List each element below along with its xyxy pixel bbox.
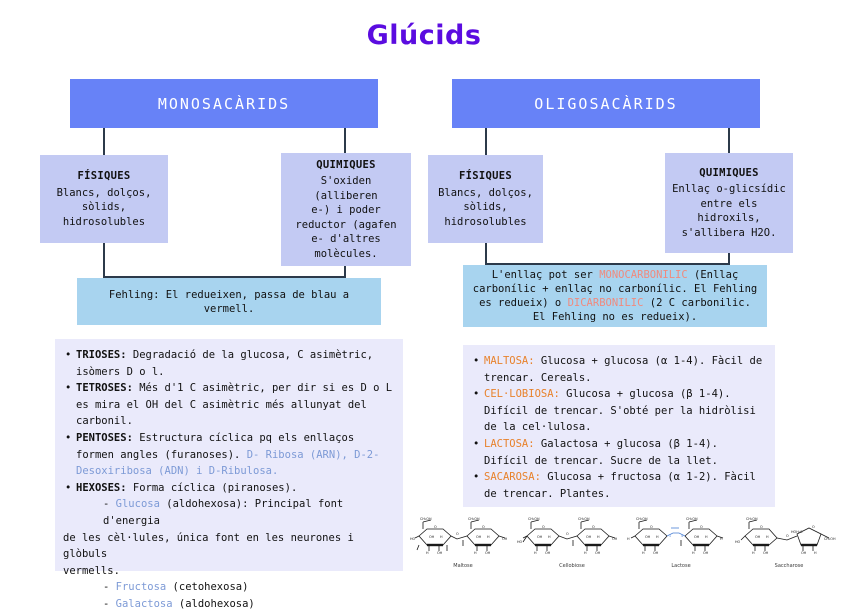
- cellobiose-structure-icon: CH₂OHCH₂OH HOOHH HOH O OHH OHHOH OO: [517, 516, 627, 562]
- sub-name-fructosa: Fructosa: [116, 581, 167, 593]
- svg-text:HOH₂C: HOH₂C: [791, 530, 803, 534]
- box-enllac-note[interactable]: L'enllaç pot ser MONOCARBONILIC (Enllaç …: [463, 265, 767, 327]
- sub-item[interactable]: - Fructosa (cetohexosa): [63, 579, 393, 596]
- structure-saccharose: CH₂OH HOOHH HOH O HOH₂C CH₂OH OHH OO Sac…: [734, 516, 844, 578]
- svg-text:CH₂OH: CH₂OH: [420, 517, 432, 521]
- sub-name-glucosa: Glucosa: [116, 498, 160, 510]
- svg-text:H: H: [642, 551, 645, 555]
- box-monosacarids-quimiques-body: S'oxiden (alliberen e-) i poder reductor…: [287, 174, 405, 261]
- monosacarids-bullet-list: TRIOSES: Degradació de la glucosa, C asi…: [63, 347, 393, 496]
- svg-text:OH: OH: [653, 551, 659, 555]
- svg-text:H: H: [656, 535, 659, 539]
- svg-text:OH: OH: [537, 535, 543, 539]
- page-title: Glúcids: [0, 20, 848, 51]
- list-oligosacarids[interactable]: MALTOSA: Glucosa + glucosa (α 1-4). Fàci…: [463, 345, 775, 507]
- box-monosacarids-quimiques[interactable]: QUIMIQUES S'oxiden (alliberen e-) i pode…: [281, 153, 411, 266]
- svg-text:4: 4: [681, 534, 683, 538]
- svg-text:H: H: [627, 537, 630, 541]
- svg-text:H: H: [548, 535, 551, 539]
- box-fehling-text: Fehling: El redueixen, passa de blau a v…: [85, 288, 373, 316]
- list-item[interactable]: SACAROSA: Glucosa + fructosa (α 1-2). Fà…: [471, 469, 765, 502]
- box-oligosacarids-fisiques-body: Blancs, dolços, sòlids, hidrosolubles: [438, 186, 533, 230]
- svg-text:OH: OH: [645, 535, 651, 539]
- box-monosacarids-fisiques[interactable]: FÍSIQUES Blancs, dolços, sòlids, hidroso…: [40, 155, 168, 243]
- svg-text:OH: OH: [755, 535, 761, 539]
- header-oligosacarids-label: OLIGOSACÀRIDS: [534, 95, 677, 113]
- svg-text:CH₂OH: CH₂OH: [578, 517, 590, 521]
- svg-text:H: H: [597, 535, 600, 539]
- svg-text:O: O: [650, 525, 653, 529]
- sub-name-galactosa: Galactosa: [116, 598, 173, 610]
- svg-text:H: H: [720, 537, 723, 541]
- sub-item-continuation: de les cèl·lules, única font en les neur…: [63, 530, 393, 563]
- item-term: SACAROSA:: [484, 471, 541, 483]
- svg-text:CH₂OH: CH₂OH: [824, 537, 836, 541]
- svg-text:O: O: [760, 525, 763, 529]
- svg-text:OH: OH: [437, 551, 443, 555]
- svg-text:CH₂OH: CH₂OH: [468, 517, 480, 521]
- oligosacarids-bullet-list: MALTOSA: Glucosa + glucosa (α 1-4). Fàci…: [471, 353, 765, 502]
- item-term: PENTOSES:: [76, 432, 133, 444]
- sub-item[interactable]: - Glucosa (aldohexosa): Principal font d…: [63, 496, 393, 529]
- header-monosacarids[interactable]: MONOSACÀRIDS: [70, 79, 378, 128]
- structure-label: Saccharose: [775, 563, 804, 569]
- item-term: TRIOSES:: [76, 349, 127, 361]
- svg-text:CH₂OH: CH₂OH: [746, 517, 758, 521]
- svg-text:O: O: [482, 525, 485, 529]
- list-monosacarids[interactable]: TRIOSES: Degradació de la glucosa, C asi…: [55, 339, 403, 571]
- svg-text:OH: OH: [476, 535, 482, 539]
- box-monosacarids-fisiques-title: FÍSIQUES: [78, 169, 131, 184]
- svg-text:H: H: [766, 535, 769, 539]
- list-item[interactable]: MALTOSA: Glucosa + glucosa (α 1-4). Fàci…: [471, 353, 765, 386]
- svg-text:O: O: [592, 525, 595, 529]
- box-fehling-note[interactable]: Fehling: El redueixen, passa de blau a v…: [77, 278, 381, 325]
- connector-mono-fis-down: [103, 243, 105, 278]
- svg-text:H: H: [814, 551, 817, 555]
- sub-text: de les cèl·lules, única font en les neur…: [63, 532, 354, 561]
- svg-text:O: O: [812, 525, 815, 529]
- svg-text:H: H: [584, 551, 587, 555]
- svg-text:H: H: [534, 551, 537, 555]
- svg-text:O: O: [566, 532, 569, 536]
- svg-text:HO: HO: [735, 540, 741, 544]
- structure-label: Lactose: [671, 563, 690, 569]
- structure-cellobiose: CH₂OHCH₂OH HOOHH HOH O OHH OHHOH OO Cell…: [516, 516, 628, 578]
- item-term: HEXOSES:: [76, 482, 127, 494]
- svg-text:OH: OH: [703, 551, 709, 555]
- sub-dash: -: [103, 498, 116, 510]
- box-monosacarids-quimiques-title: QUIMIQUES: [316, 158, 376, 173]
- box-enllac-text: L'enllaç pot ser MONOCARBONILIC (Enllaç …: [471, 268, 759, 324]
- svg-text:OH: OH: [545, 551, 551, 555]
- sub-dash: -: [103, 598, 116, 610]
- chemical-structures-strip: CH₂OHCH₂OH HOOHH HOH O OHH OHHOH OO Malt…: [408, 516, 844, 578]
- svg-text:OH: OH: [485, 551, 491, 555]
- sub-text: (aldohexosa): [173, 598, 255, 610]
- svg-text:O: O: [456, 532, 459, 536]
- svg-text:O: O: [786, 534, 789, 538]
- box-oligosacarids-quimiques[interactable]: QUIMIQUES Enllaç o-glicsídic entre els h…: [665, 153, 793, 253]
- svg-text:O: O: [700, 525, 703, 529]
- svg-text:H: H: [440, 535, 443, 539]
- svg-text:O: O: [434, 525, 437, 529]
- list-item[interactable]: CEL·LOBIOSA: Glucosa + glucosa (β 1-4). …: [471, 386, 765, 436]
- enllac-monocarbonilic: MONOCARBONILIC: [599, 269, 688, 281]
- list-item[interactable]: TRIOSES: Degradació de la glucosa, C asi…: [63, 347, 393, 380]
- svg-text:HO: HO: [410, 537, 416, 541]
- item-term: TETROSES:: [76, 382, 133, 394]
- structure-lactose: CH₂OHCH₂OH HOHH HOH OHH HHOH OO 14 Lacto…: [626, 516, 736, 578]
- box-oligosacarids-fisiques-title: FÍSIQUES: [459, 169, 512, 184]
- svg-text:O: O: [542, 525, 545, 529]
- enllac-dicarbonilic: DICARBONILIC: [568, 297, 644, 309]
- lactose-structure-icon: CH₂OHCH₂OH HOHH HOH OHH HHOH OO 14: [627, 516, 735, 562]
- box-monosacarids-fisiques-body: Blancs, dolços, sòlids, hidrosolubles: [57, 186, 152, 230]
- header-monosacarids-label: MONOSACÀRIDS: [158, 95, 290, 113]
- svg-text:OH: OH: [694, 535, 700, 539]
- saccharose-structure-icon: CH₂OH HOOHH HOH O HOH₂C CH₂OH OHH OO: [735, 516, 843, 562]
- svg-text:H: H: [752, 551, 755, 555]
- maltose-structure-icon: CH₂OHCH₂OH HOOHH HOH O OHH OHHOH OO: [409, 516, 517, 562]
- svg-text:HO: HO: [517, 540, 523, 544]
- item-text: Forma cíclica (piranoses).: [127, 482, 298, 494]
- diagram-canvas: Glúcids MONOSACÀRIDS OLIGOSACÀRIDS FÍSIQ…: [0, 0, 848, 599]
- svg-text:H: H: [692, 551, 695, 555]
- structure-label: Cellobiose: [559, 563, 585, 569]
- svg-text:OH: OH: [763, 551, 769, 555]
- svg-text:OH: OH: [801, 551, 807, 555]
- box-oligosacarids-quimiques-title: QUIMIQUES: [699, 166, 759, 181]
- sub-item-continuation: vermells.: [63, 563, 393, 580]
- header-oligosacarids[interactable]: OLIGOSACÀRIDS: [452, 79, 760, 128]
- connector-mono-right-vertical: [344, 128, 346, 153]
- structure-maltose: CH₂OHCH₂OH HOOHH HOH O OHH OHHOH OO Malt…: [408, 516, 518, 578]
- svg-text:CH₂OH: CH₂OH: [528, 517, 540, 521]
- list-item[interactable]: PENTOSES: Estructura cíclica pq els enll…: [63, 430, 393, 480]
- connector-oligo-left-vertical: [485, 128, 487, 155]
- svg-text:H: H: [487, 535, 490, 539]
- list-item[interactable]: LACTOSA: Galactosa + glucosa (β 1-4). Di…: [471, 436, 765, 469]
- connector-oligo-fis-down: [485, 243, 487, 265]
- svg-text:H: H: [426, 551, 429, 555]
- svg-text:1: 1: [669, 534, 671, 538]
- box-oligosacarids-quimiques-body: Enllaç o-glicsídic entre els hidroxils, …: [672, 182, 786, 240]
- svg-text:OH: OH: [429, 535, 435, 539]
- sub-text: vermells.: [63, 565, 120, 577]
- item-term: LACTOSA:: [484, 438, 535, 450]
- svg-text:CH₂OH: CH₂OH: [686, 517, 698, 521]
- svg-text:CH₂OH: CH₂OH: [636, 517, 648, 521]
- svg-text:OH: OH: [502, 537, 508, 541]
- enllac-part-1: L'enllaç pot ser: [492, 269, 599, 281]
- connector-oligo-right-vertical: [728, 128, 730, 153]
- structure-label: Maltose: [453, 563, 472, 569]
- svg-text:H: H: [705, 535, 708, 539]
- box-oligosacarids-fisiques[interactable]: FÍSIQUES Blancs, dolços, sòlids, hidroso…: [428, 155, 543, 243]
- svg-text:H: H: [474, 551, 477, 555]
- svg-text:OH: OH: [612, 537, 618, 541]
- sub-dash: -: [103, 581, 116, 593]
- item-term: CEL·LOBIOSA:: [484, 388, 560, 400]
- item-term: MALTOSA:: [484, 355, 535, 367]
- list-item[interactable]: TETROSES: Més d'1 C asimètric, per dir s…: [63, 380, 393, 430]
- sub-text: (cetohexosa): [166, 581, 248, 593]
- list-item[interactable]: HEXOSES: Forma cíclica (piranoses).: [63, 480, 393, 497]
- sub-item[interactable]: - Galactosa (aldohexosa): [63, 596, 393, 613]
- svg-text:OH: OH: [595, 551, 601, 555]
- connector-oligo-qui-down: [728, 253, 730, 265]
- svg-text:OH: OH: [586, 535, 592, 539]
- connector-mono-left-vertical: [103, 128, 105, 155]
